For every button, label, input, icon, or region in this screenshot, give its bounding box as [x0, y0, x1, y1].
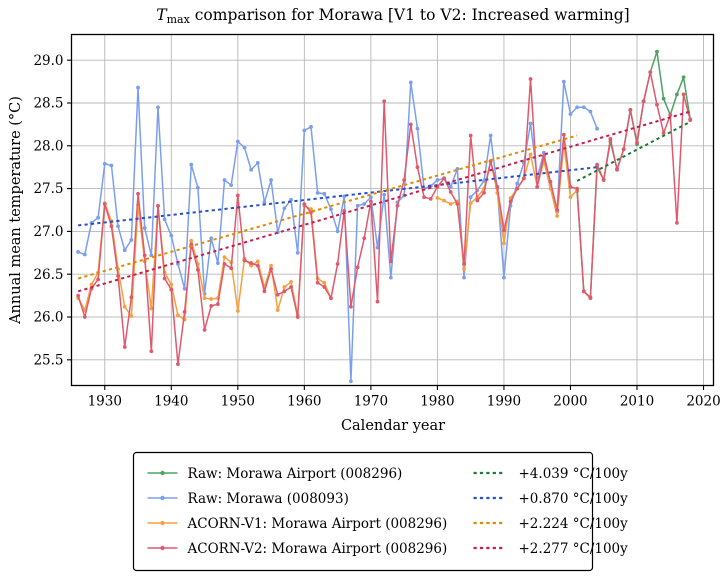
data-point [236, 194, 240, 198]
y-tick-label: 26.0 [33, 310, 63, 326]
data-point [256, 161, 260, 165]
data-point [376, 300, 380, 304]
data-point [236, 140, 240, 144]
data-point [322, 192, 326, 196]
data-point [356, 265, 360, 269]
data-point [529, 122, 533, 126]
data-point [349, 305, 353, 309]
data-point [96, 277, 100, 281]
legend-label: ACORN-V2: Morawa Airport (008296) [187, 541, 448, 557]
data-point [269, 178, 273, 182]
data-point [502, 229, 506, 233]
data-point [416, 127, 420, 131]
data-point [156, 204, 160, 208]
data-point [256, 259, 260, 263]
legend-swatch-marker [160, 546, 164, 550]
y-tick-label: 28.5 [33, 96, 63, 112]
data-point [475, 199, 479, 203]
data-point [116, 274, 120, 278]
x-tick-label: 2010 [620, 394, 654, 410]
data-point [209, 304, 213, 308]
data-point [688, 118, 692, 122]
data-point [163, 277, 167, 281]
x-axis-label: Calendar year [341, 418, 445, 434]
data-point [282, 289, 286, 293]
data-point [582, 105, 586, 109]
data-point [329, 207, 333, 211]
data-point [449, 202, 453, 206]
data-point [569, 112, 573, 116]
data-point [302, 128, 306, 132]
data-point [316, 281, 320, 285]
data-point [469, 195, 473, 199]
data-point [269, 267, 273, 271]
data-point [322, 285, 326, 289]
data-point [209, 236, 213, 240]
data-point [555, 214, 559, 218]
data-point [196, 268, 200, 272]
data-point [256, 264, 260, 268]
data-point [682, 75, 686, 79]
data-point [243, 259, 247, 263]
data-point [462, 276, 466, 280]
data-point [462, 262, 466, 266]
data-point [442, 199, 446, 203]
data-point [662, 131, 666, 135]
data-point [183, 310, 187, 314]
data-point [163, 218, 167, 222]
chart-title-group: Tmax comparison for Morawa [V1 to V2: In… [156, 6, 629, 26]
data-point [422, 195, 426, 199]
y-tick-label: 27.0 [33, 224, 63, 240]
data-point [296, 251, 300, 255]
data-point [608, 137, 612, 141]
y-tick-label: 27.5 [33, 181, 63, 197]
data-point [76, 250, 80, 254]
data-point [83, 315, 87, 319]
data-point [602, 178, 606, 182]
data-point [336, 262, 340, 266]
data-point [322, 281, 326, 285]
x-tick-label: 2020 [686, 394, 720, 410]
data-point [116, 224, 120, 228]
data-point [449, 190, 453, 194]
data-point [249, 261, 253, 265]
data-point [143, 226, 147, 230]
data-point [502, 276, 506, 280]
data-point [402, 178, 406, 182]
data-point [502, 241, 506, 245]
x-tick-label: 1940 [154, 394, 188, 410]
data-point [462, 267, 466, 271]
data-point [662, 97, 666, 101]
data-point [575, 105, 579, 109]
data-point [302, 202, 306, 206]
data-point [615, 168, 619, 172]
data-point [249, 168, 253, 172]
data-point [469, 201, 473, 205]
legend-swatch-marker [160, 471, 164, 475]
data-point [569, 185, 573, 189]
data-point [595, 127, 599, 131]
x-tick-label: 1990 [487, 394, 521, 410]
legend-trend-label: +0.870 °C/100y [519, 491, 629, 507]
data-point [129, 238, 133, 242]
data-point [223, 255, 227, 259]
legend-trend-label: +2.224 °C/100y [519, 516, 629, 532]
data-point [429, 197, 433, 201]
y-tick-label: 28.0 [33, 138, 63, 154]
data-point [436, 178, 440, 182]
data-point [469, 134, 473, 138]
data-point [110, 224, 114, 228]
data-point [495, 185, 499, 189]
legend-label: Raw: Morawa Airport (008296) [188, 466, 403, 482]
legend-label: Raw: Morawa (008093) [188, 491, 349, 507]
data-point [455, 202, 459, 206]
data-point [123, 248, 127, 252]
x-tick-label: 1930 [88, 394, 122, 410]
data-point [123, 345, 127, 349]
data-point [263, 289, 267, 293]
data-point [176, 313, 180, 317]
data-point [216, 302, 220, 306]
data-point [103, 162, 107, 166]
data-point [183, 287, 187, 291]
data-point [169, 288, 173, 292]
data-point [169, 283, 173, 287]
data-point [209, 297, 213, 301]
data-point [336, 230, 340, 234]
data-point [569, 195, 573, 199]
data-point [389, 276, 393, 280]
y-axis-label: Annual mean temperature (°C) [8, 96, 24, 325]
data-point [110, 164, 114, 168]
data-point [103, 202, 107, 206]
data-point [529, 152, 533, 156]
data-point [482, 191, 486, 195]
data-point [582, 289, 586, 293]
data-point [382, 99, 386, 103]
legend-swatch-marker [160, 496, 164, 500]
data-point [515, 182, 519, 186]
data-point [382, 193, 386, 197]
data-point [436, 196, 440, 200]
legend-trend-label: +2.277 °C/100y [519, 541, 629, 557]
data-point [169, 234, 173, 238]
data-point [276, 308, 280, 312]
data-point [642, 99, 646, 103]
data-point [489, 134, 493, 138]
data-point [595, 163, 599, 167]
data-point [675, 221, 679, 225]
data-point [223, 178, 227, 182]
data-point [362, 236, 366, 240]
legend-label: ACORN-V1: Morawa Airport (008296) [187, 516, 448, 532]
data-point [575, 187, 579, 191]
data-point [282, 206, 286, 210]
data-point [269, 264, 273, 268]
y-tick-label: 25.5 [33, 352, 63, 368]
data-point [589, 296, 593, 300]
data-point [236, 309, 240, 313]
data-point [276, 293, 280, 297]
y-tick-label: 26.5 [33, 267, 63, 283]
data-point [635, 140, 639, 144]
data-point [189, 163, 193, 167]
data-point [289, 280, 293, 284]
data-point [369, 200, 373, 204]
data-point [349, 379, 353, 383]
data-point [535, 185, 539, 189]
data-point [668, 113, 672, 117]
data-point [136, 86, 140, 90]
data-point [176, 362, 180, 366]
x-tick-label: 1980 [420, 394, 454, 410]
data-point [229, 183, 233, 187]
data-point [296, 315, 300, 319]
data-point [522, 176, 526, 180]
data-point [223, 262, 227, 266]
data-point [203, 296, 207, 300]
data-point [555, 208, 559, 212]
data-point [622, 147, 626, 151]
data-point [203, 328, 207, 332]
data-point [76, 294, 80, 298]
x-tick-label: 2000 [553, 394, 587, 410]
data-point [529, 77, 533, 81]
legend[interactable]: Raw: Morawa Airport (008296)Raw: Morawa … [134, 453, 629, 571]
data-point [289, 285, 293, 289]
data-point [409, 122, 413, 126]
x-tick-label: 1950 [221, 394, 255, 410]
legend-item-acorn_v1[interactable]: ACORN-V1: Morawa Airport (008296) [148, 516, 448, 532]
data-point [562, 133, 566, 137]
data-point [136, 192, 140, 196]
page-title: Tmax comparison for Morawa [V1 to V2: In… [156, 6, 629, 26]
data-point [509, 200, 513, 204]
data-point [123, 305, 127, 309]
data-point [409, 81, 413, 85]
data-point [648, 70, 652, 74]
data-point [282, 285, 286, 289]
data-point [149, 349, 153, 353]
data-point [229, 266, 233, 270]
data-point [675, 93, 679, 97]
x-tick-label: 1970 [354, 394, 388, 410]
data-point [416, 165, 420, 169]
data-point [143, 253, 147, 257]
data-point [362, 202, 366, 206]
data-point [589, 110, 593, 114]
data-point [389, 259, 393, 263]
data-point [129, 295, 133, 299]
data-point [196, 186, 200, 190]
data-point [396, 204, 400, 208]
data-point [96, 216, 100, 220]
data-point [356, 204, 360, 208]
data-point [243, 146, 247, 150]
legend-swatch-marker [160, 521, 164, 525]
data-point [628, 108, 632, 112]
chart-page: Tmax comparison for Morawa [V1 to V2: In… [0, 0, 726, 584]
legend-trend-label: +4.039 °C/100y [519, 466, 629, 482]
data-point [156, 105, 160, 109]
data-point [655, 103, 659, 107]
data-point [309, 125, 313, 129]
data-point [515, 187, 519, 191]
data-point [83, 253, 87, 257]
figure: Tmax comparison for Morawa [V1 to V2: In… [0, 0, 726, 584]
data-point [316, 191, 320, 195]
data-point [129, 314, 133, 318]
data-point [189, 239, 193, 243]
legend-item-acorn_v2[interactable]: ACORN-V2: Morawa Airport (008296) [148, 541, 448, 557]
data-point [682, 93, 686, 97]
data-point [549, 180, 553, 184]
data-point [329, 296, 333, 300]
x-tick-label: 1960 [287, 394, 321, 410]
data-point [655, 50, 659, 54]
data-point [562, 80, 566, 84]
y-tick-label: 29.0 [33, 53, 63, 69]
data-point [216, 261, 220, 265]
data-point [442, 176, 446, 180]
